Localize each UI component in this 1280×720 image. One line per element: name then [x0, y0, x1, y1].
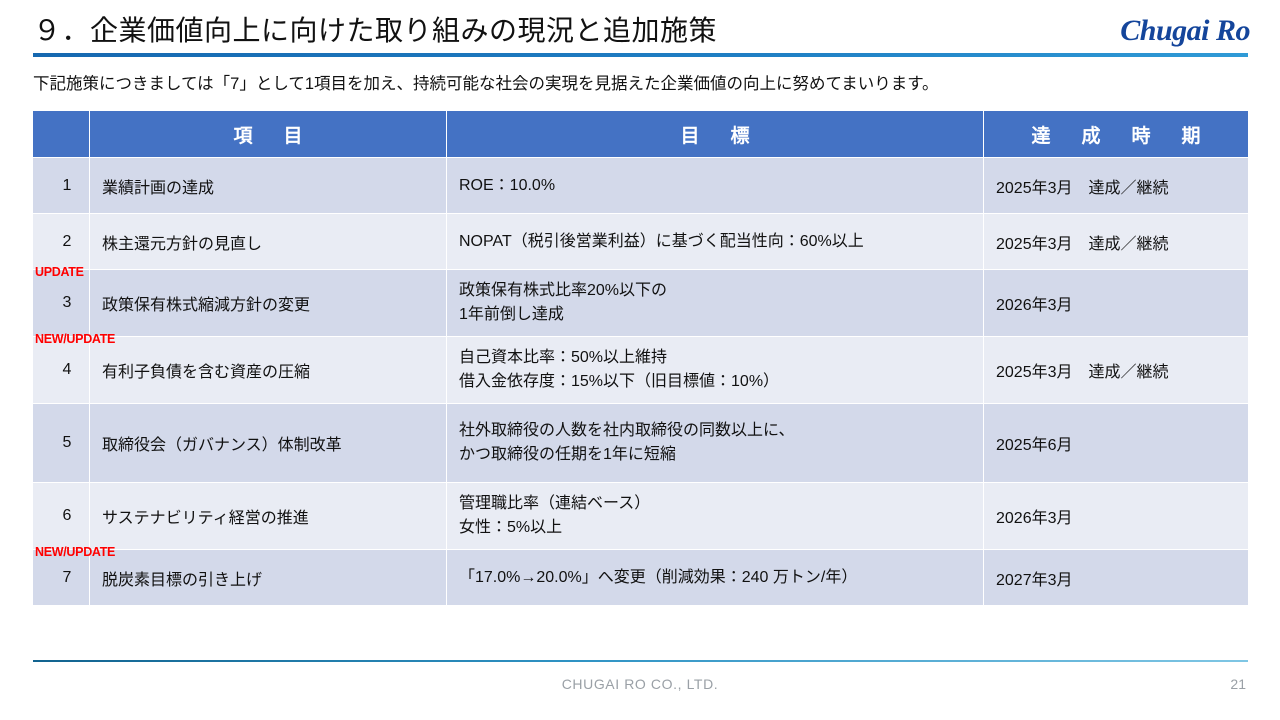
goal-line: ROE：10.0% [459, 174, 983, 198]
column-header-when: 達 成 時 期 [984, 111, 1249, 158]
lead-paragraph: 下記施策につきましては「7」として1項目を加え、持続可能な社会の実現を見据えた企… [33, 70, 939, 94]
goal-line: 女性：5%以上 [459, 516, 983, 540]
footer-page-number: 21 [1230, 676, 1246, 692]
row-goal-text: 政策保有株式比率20%以下の1年前倒し達成 [447, 270, 984, 337]
table-body: 1業績計画の達成ROE：10.0%2025年3月 達成／継続2株主還元方針の見直… [33, 158, 1249, 606]
row-number: 6 [33, 483, 90, 550]
row-item-label: 株主還元方針の見直し [90, 214, 447, 270]
row-goal-text: 「17.0%→20.0%」へ変更（削減効果：240 万トン/年） [447, 550, 984, 606]
row-number-label: 1 [63, 177, 72, 194]
row-number-label: 2 [63, 233, 72, 250]
slide-header: ９．企業価値向上に向けた取り組みの現況と追加施策 Chugai Ro [0, 0, 1280, 62]
footer-divider [33, 660, 1248, 662]
table-row: 2株主還元方針の見直しNOPAT（税引後営業利益）に基づく配当性向：60%以上2… [33, 214, 1249, 270]
goal-line: 管理職比率（連結ベース） [459, 492, 983, 516]
row-number: 1 [33, 158, 90, 214]
row-number: UPDATE3 [33, 270, 90, 337]
row-item-label: 業績計画の達成 [90, 158, 447, 214]
row-goal-text: NOPAT（税引後営業利益）に基づく配当性向：60%以上 [447, 214, 984, 270]
goal-line: NOPAT（税引後営業利益）に基づく配当性向：60%以上 [459, 230, 983, 254]
row-item-label: 取締役会（ガバナンス）体制改革 [90, 404, 447, 483]
table-head: 項 目 目 標 達 成 時 期 [33, 111, 1249, 158]
row-deadline: 2025年3月 達成／継続 [984, 158, 1249, 214]
row-number: 5 [33, 404, 90, 483]
page-title: ９．企業価値向上に向けた取り組みの現況と追加施策 [33, 9, 717, 49]
row-number-label: 6 [63, 507, 72, 524]
row-number-label: 3 [63, 294, 72, 311]
row-number: NEW/UPDATE7 [33, 550, 90, 606]
row-number-label: 4 [63, 361, 72, 378]
row-number: NEW/UPDATE4 [33, 337, 90, 404]
row-goal-text: 自己資本比率：50%以上維持借入金依存度：15%以下（旧目標値：10%） [447, 337, 984, 404]
row-item-label: 有利子負債を含む資産の圧縮 [90, 337, 447, 404]
row-item-label: サステナビリティ経営の推進 [90, 483, 447, 550]
row-item-label: 政策保有株式縮減方針の変更 [90, 270, 447, 337]
row-item-label: 脱炭素目標の引き上げ [90, 550, 447, 606]
table-row: 1業績計画の達成ROE：10.0%2025年3月 達成／継続 [33, 158, 1249, 214]
row-goal-text: ROE：10.0% [447, 158, 984, 214]
chugai-ro-logo: Chugai Ro [1120, 14, 1250, 48]
row-goal-text: 社外取締役の人数を社内取締役の同数以上に、かつ取締役の任期を1年に短縮 [447, 404, 984, 483]
row-number-label: 5 [63, 434, 72, 451]
table-row: 6サステナビリティ経営の推進管理職比率（連結ベース）女性：5%以上2026年3月 [33, 483, 1249, 550]
table-row: NEW/UPDATE4有利子負債を含む資産の圧縮自己資本比率：50%以上維持借入… [33, 337, 1249, 404]
row-deadline: 2027年3月 [984, 550, 1249, 606]
goal-line: 自己資本比率：50%以上維持 [459, 346, 983, 370]
row-number: 2 [33, 214, 90, 270]
goal-line: 1年前倒し達成 [459, 303, 983, 327]
footer-company-name: CHUGAI RO CO., LTD. [0, 676, 1280, 692]
goal-line: 借入金依存度：15%以下（旧目標値：10%） [459, 370, 983, 394]
row-deadline: 2026年3月 [984, 483, 1249, 550]
row-deadline: 2025年6月 [984, 404, 1249, 483]
table-row: UPDATE3政策保有株式縮減方針の変更政策保有株式比率20%以下の1年前倒し達… [33, 270, 1249, 337]
goal-line: 社外取締役の人数を社内取締役の同数以上に、 [459, 419, 983, 443]
column-header-no [33, 111, 90, 158]
table-row: NEW/UPDATE7脱炭素目標の引き上げ「17.0%→20.0%」へ変更（削減… [33, 550, 1249, 606]
column-header-item: 項 目 [90, 111, 447, 158]
row-deadline: 2025年3月 達成／継続 [984, 337, 1249, 404]
table-header-row: 項 目 目 標 達 成 時 期 [33, 111, 1249, 158]
goal-line: かつ取締役の任期を1年に短縮 [459, 443, 983, 467]
row-number-label: 7 [63, 569, 72, 586]
row-deadline: 2025年3月 達成／継続 [984, 214, 1249, 270]
row-deadline: 2026年3月 [984, 270, 1249, 337]
table-row: 5取締役会（ガバナンス）体制改革社外取締役の人数を社内取締役の同数以上に、かつ取… [33, 404, 1249, 483]
goal-line: 政策保有株式比率20%以下の [459, 279, 983, 303]
column-header-goal: 目 標 [447, 111, 984, 158]
title-divider [33, 53, 1248, 57]
goal-line: 「17.0%→20.0%」へ変更（削減効果：240 万トン/年） [459, 566, 983, 590]
row-goal-text: 管理職比率（連結ベース）女性：5%以上 [447, 483, 984, 550]
initiatives-table: 項 目 目 標 達 成 時 期 1業績計画の達成ROE：10.0%2025年3月… [32, 110, 1249, 606]
